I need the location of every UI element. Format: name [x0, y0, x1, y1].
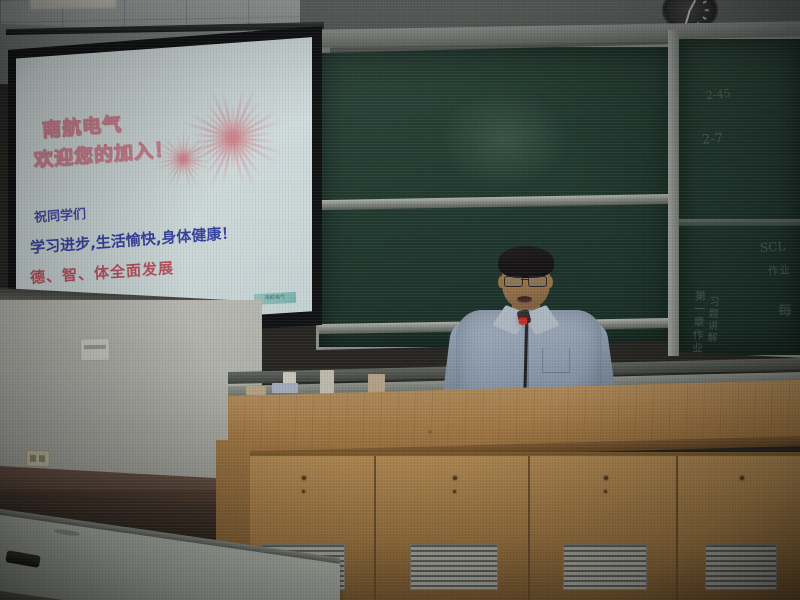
glasses-icon: [504, 276, 523, 287]
cabinet-panel[interactable]: [374, 456, 531, 600]
cabinet-panel[interactable]: [676, 456, 800, 600]
chalk-note: SCL: [760, 239, 786, 255]
presenter-hair: [498, 246, 554, 278]
ceiling-light-fixture: [30, 0, 116, 9]
chalk-note-vertical: 习题讲解: [703, 296, 720, 345]
slide-body-line-2: 学习进步,生活愉快,身体健康！: [30, 222, 237, 258]
cabinet-vent-grille: [563, 544, 648, 590]
power-outlet-icon: [26, 450, 50, 468]
starburst-graphic-small: [182, 158, 184, 160]
glasses-icon: [528, 276, 547, 287]
presenter-ear-right: [546, 276, 553, 288]
presenter-mouth: [517, 296, 532, 303]
blackboard-slide-rail: [319, 194, 675, 210]
starburst-graphic-large: [232, 137, 234, 139]
wall-notice-card: [80, 338, 111, 362]
cabinet-screw: [302, 490, 305, 493]
blackboard-glare: [440, 89, 568, 191]
chalk-note: 2-45: [705, 87, 731, 103]
cabinet-screw: [604, 476, 608, 480]
cabinet-panel[interactable]: [528, 456, 679, 600]
cabinet-screw: [604, 490, 607, 493]
board-eraser: [246, 386, 266, 395]
chalk-box-blue: [272, 383, 298, 393]
slide-body-line-1: 祝同学们: [34, 203, 87, 226]
projected-slide: 南航电气 欢迎您的加入！ 祝同学们 学习进步,生活愉快,身体健康！ 德、智、体全…: [16, 36, 312, 332]
classroom-photo-scene: 2-45 2-7 SCL 作业 每 第一章作业 习题讲解 南航电气 欢迎您的加入…: [0, 0, 800, 600]
cabinet-vent-grille: [410, 544, 498, 590]
cabinet-vent-grille: [705, 544, 776, 590]
cabinet-screw: [453, 476, 457, 480]
chalk-note: 作业: [767, 261, 790, 278]
slide-title-line-1: 南航电气: [41, 109, 122, 142]
cabinet-screw: [302, 476, 306, 480]
cabinet-screw: [740, 476, 744, 480]
cabinet-screw: [453, 490, 456, 493]
presenter-shirt-pocket: [542, 348, 570, 373]
glasses-bridge: [521, 279, 529, 280]
chalk-note: 2-7: [701, 131, 723, 148]
blackboard-mullion: [668, 30, 679, 356]
chalk-note: 每: [777, 300, 792, 321]
microphone-status-led: [519, 318, 527, 324]
blackboard-slide-rail: [679, 219, 800, 226]
slide-body-line-3: 德、智、体全面发展: [30, 257, 175, 288]
clock-tick: [705, 9, 709, 11]
